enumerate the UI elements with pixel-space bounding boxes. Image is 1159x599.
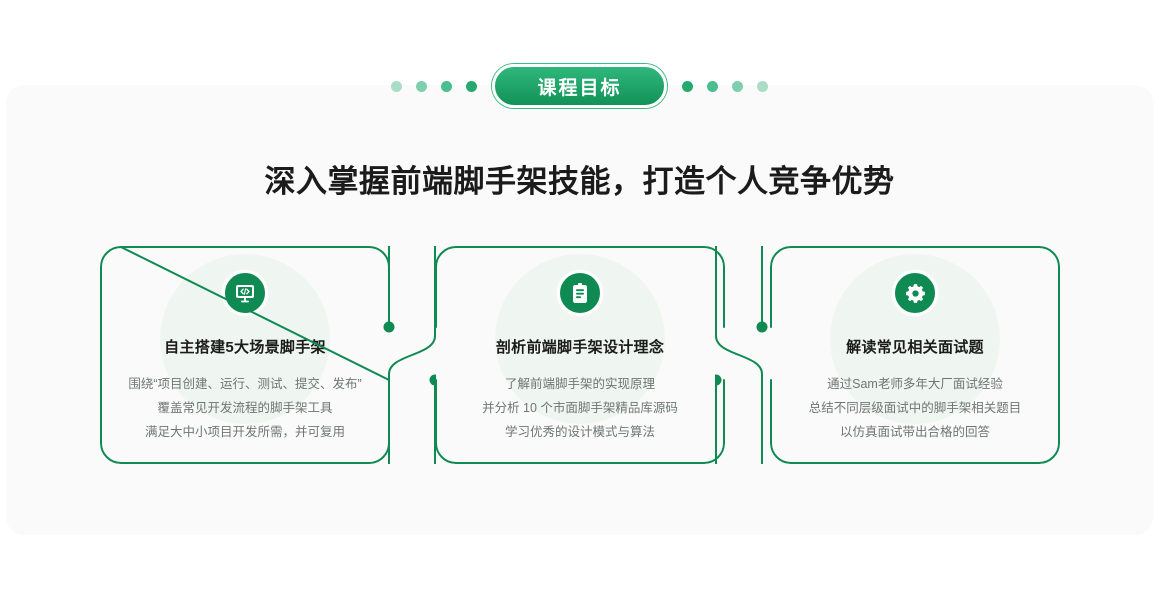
section-badge-label: 课程目标 [537,73,621,100]
dot-icon [682,81,693,92]
section-header: 课程目标 [0,64,1159,108]
card-connector [380,246,436,464]
dot-icon [441,81,452,92]
card-border [100,246,390,464]
feature-card[interactable]: 解读常见相关面试题 通过Sam老师多年大厂面试经验 总结不同层级面试中的脚手架相… [770,246,1060,464]
feature-card[interactable]: 自主搭建5大场景脚手架 围绕“项目创建、运行、测试、提交、发布” 覆盖常见开发流… [100,246,390,464]
connector-dot [430,375,437,386]
dot-icon [732,81,743,92]
dot-icon [707,81,718,92]
connector-dot [384,322,395,333]
decorative-dots-left [391,81,477,92]
card-connector [715,246,771,464]
card-border [770,246,1060,464]
decorative-dots-right [682,81,768,92]
page-root: 课程目标 深入掌握前端脚手架技能，打造个人竞争优势 [0,0,1159,599]
section-badge: 课程目标 [492,64,667,108]
dot-icon [416,81,427,92]
card-border [435,246,725,464]
dot-icon [391,81,402,92]
connector-dot [715,375,722,386]
feature-card[interactable]: 剖析前端脚手架设计理念 了解前端脚手架的实现原理 并分析 10 个市面脚手架精品… [435,246,725,464]
connector-dot [757,322,768,333]
dot-icon [757,81,768,92]
feature-card-list: 自主搭建5大场景脚手架 围绕“项目创建、运行、测试、提交、发布” 覆盖常见开发流… [0,246,1159,464]
dot-icon [466,81,477,92]
page-title: 深入掌握前端脚手架技能，打造个人竞争优势 [0,156,1159,201]
